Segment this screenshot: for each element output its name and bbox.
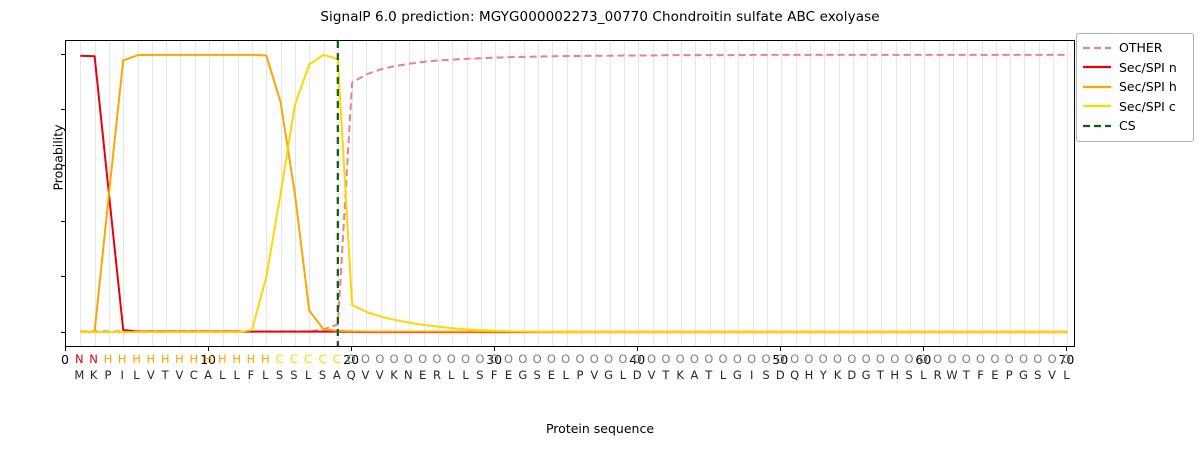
region-label: O — [1058, 352, 1074, 366]
legend-swatch-icon — [1082, 120, 1112, 132]
legend-swatch-icon — [1082, 42, 1112, 54]
page-title: SignalP 6.0 prediction: MGYG000002273_00… — [0, 9, 1200, 25]
residue-label: L — [1058, 368, 1074, 382]
signalp-plot-figure: SignalP 6.0 prediction: MGYG000002273_00… — [0, 0, 1200, 450]
x-tick-mark — [208, 347, 209, 351]
x-tick-mark — [637, 347, 638, 351]
plot-area — [65, 40, 1075, 347]
x-axis-label: Protein sequence — [0, 421, 1200, 436]
legend-item[interactable]: Sec/SPI c — [1082, 97, 1188, 117]
x-tick-mark — [1066, 347, 1067, 351]
probability-curves — [66, 41, 1074, 346]
legend-item[interactable]: OTHER — [1082, 38, 1188, 58]
region-annotation-row: NNHHHHHHHHHHHHCCCCCOOOOOOOOOOOOOOOOOOOOO… — [65, 352, 1075, 366]
x-tick-mark — [780, 347, 781, 351]
legend-swatch-icon — [1082, 81, 1112, 93]
legend-item[interactable]: Sec/SPI n — [1082, 58, 1188, 78]
legend-swatch-icon — [1082, 61, 1112, 73]
legend[interactable]: OTHERSec/SPI nSec/SPI hSec/SPI cCS — [1076, 33, 1194, 142]
legend-label: Sec/SPI h — [1119, 79, 1177, 94]
curve-sec-spi-c — [80, 55, 1067, 332]
legend-label: OTHER — [1119, 40, 1162, 55]
curve-sec-spi-n — [80, 56, 1067, 332]
residue-sequence-row: MKPILVTVCALLFLSSLSAQVVKNERLLSFEGSELPVGLD… — [65, 368, 1075, 382]
legend-label: CS — [1119, 118, 1136, 133]
legend-label: Sec/SPI n — [1119, 60, 1177, 75]
x-tick-mark — [923, 347, 924, 351]
curve-sec-spi-h — [80, 55, 1067, 332]
x-tick-mark — [494, 347, 495, 351]
legend-item[interactable]: CS — [1082, 116, 1188, 136]
legend-label: Sec/SPI c — [1119, 99, 1176, 114]
legend-item[interactable]: Sec/SPI h — [1082, 77, 1188, 97]
legend-swatch-icon — [1082, 100, 1112, 112]
curve-other — [80, 55, 1067, 331]
x-tick-mark — [351, 347, 352, 351]
x-tick-mark — [65, 347, 66, 351]
